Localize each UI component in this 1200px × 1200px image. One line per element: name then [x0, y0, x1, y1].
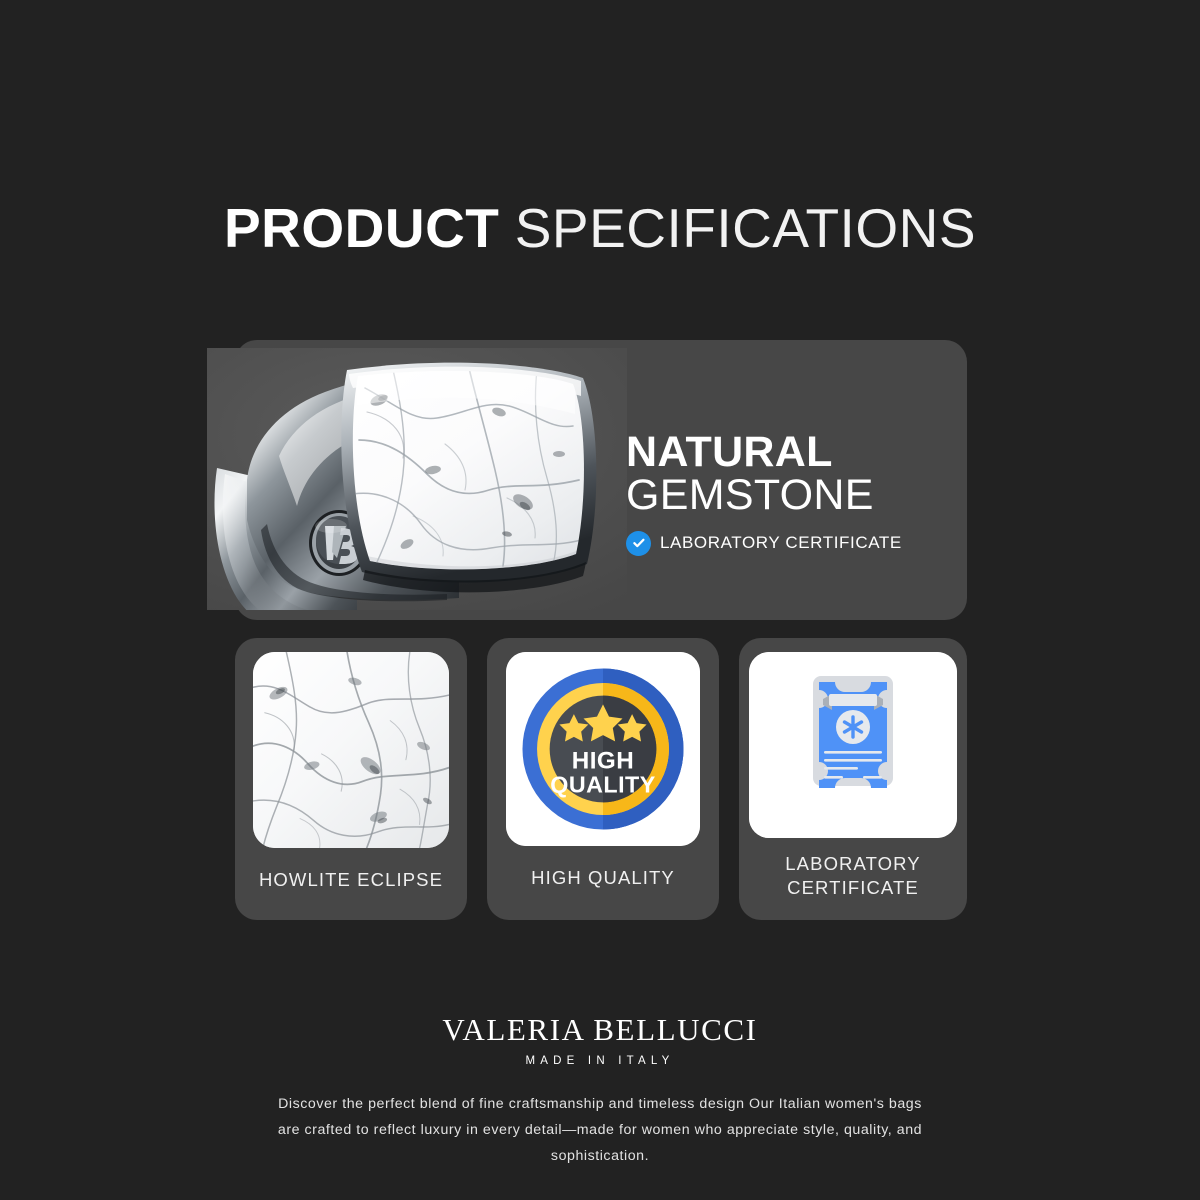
hero-card: NATURAL GEMSTONE LABORATORY CERTIFICATE: [235, 340, 967, 620]
feature-label-laboratory-certificate: LABORATORY CERTIFICATE: [785, 852, 920, 899]
feature-label-howlite-eclipse: HOWLITE ECLIPSE: [259, 868, 443, 892]
lab-certificate-label: LABORATORY CERTIFICATE: [660, 533, 902, 553]
feature-label-line-1: LABORATORY: [785, 853, 920, 874]
svg-text:HIGH: HIGH: [572, 747, 635, 774]
check-circle-icon: [626, 531, 651, 556]
page-title: PRODUCT SPECIFICATIONS: [0, 196, 1200, 260]
feature-card-howlite-eclipse[interactable]: HOWLITE ECLIPSE: [235, 638, 467, 920]
product-image: [207, 348, 627, 638]
brand-tagline: MADE IN ITALY: [0, 1055, 1200, 1067]
hero-title-light: GEMSTONE: [626, 474, 966, 518]
laboratory-certificate-icon: [749, 652, 957, 838]
page-title-bold: PRODUCT: [224, 197, 499, 259]
howlite-marble-swatch-icon: [253, 652, 449, 848]
feature-label-high-quality: HIGH QUALITY: [531, 866, 675, 890]
feature-label-line-2: CERTIFICATE: [787, 877, 919, 898]
feature-card-laboratory-certificate[interactable]: LABORATORY CERTIFICATE: [739, 638, 967, 920]
feature-cards-row: HOWLITE ECLIPSE: [235, 638, 967, 920]
page-title-light: SPECIFICATIONS: [515, 197, 976, 259]
footer: VALERIA BELLUCCI MADE IN ITALY Discover …: [0, 1012, 1200, 1170]
brand-name: VALERIA BELLUCCI: [0, 1012, 1200, 1048]
footer-description: Discover the perfect blend of fine craft…: [270, 1092, 930, 1170]
svg-text:QUALITY: QUALITY: [550, 772, 656, 798]
feature-card-high-quality[interactable]: HIGH QUALITY HIGH QUALITY: [487, 638, 719, 920]
hero-title-bold: NATURAL: [626, 432, 966, 474]
hero-text-block: NATURAL GEMSTONE LABORATORY CERTIFICATE: [626, 432, 966, 556]
lab-certificate-badge: LABORATORY CERTIFICATE: [626, 531, 966, 556]
high-quality-badge-icon: HIGH QUALITY: [506, 652, 700, 846]
infographic-page: PRODUCT SPECIFICATIONS: [0, 0, 1200, 1200]
